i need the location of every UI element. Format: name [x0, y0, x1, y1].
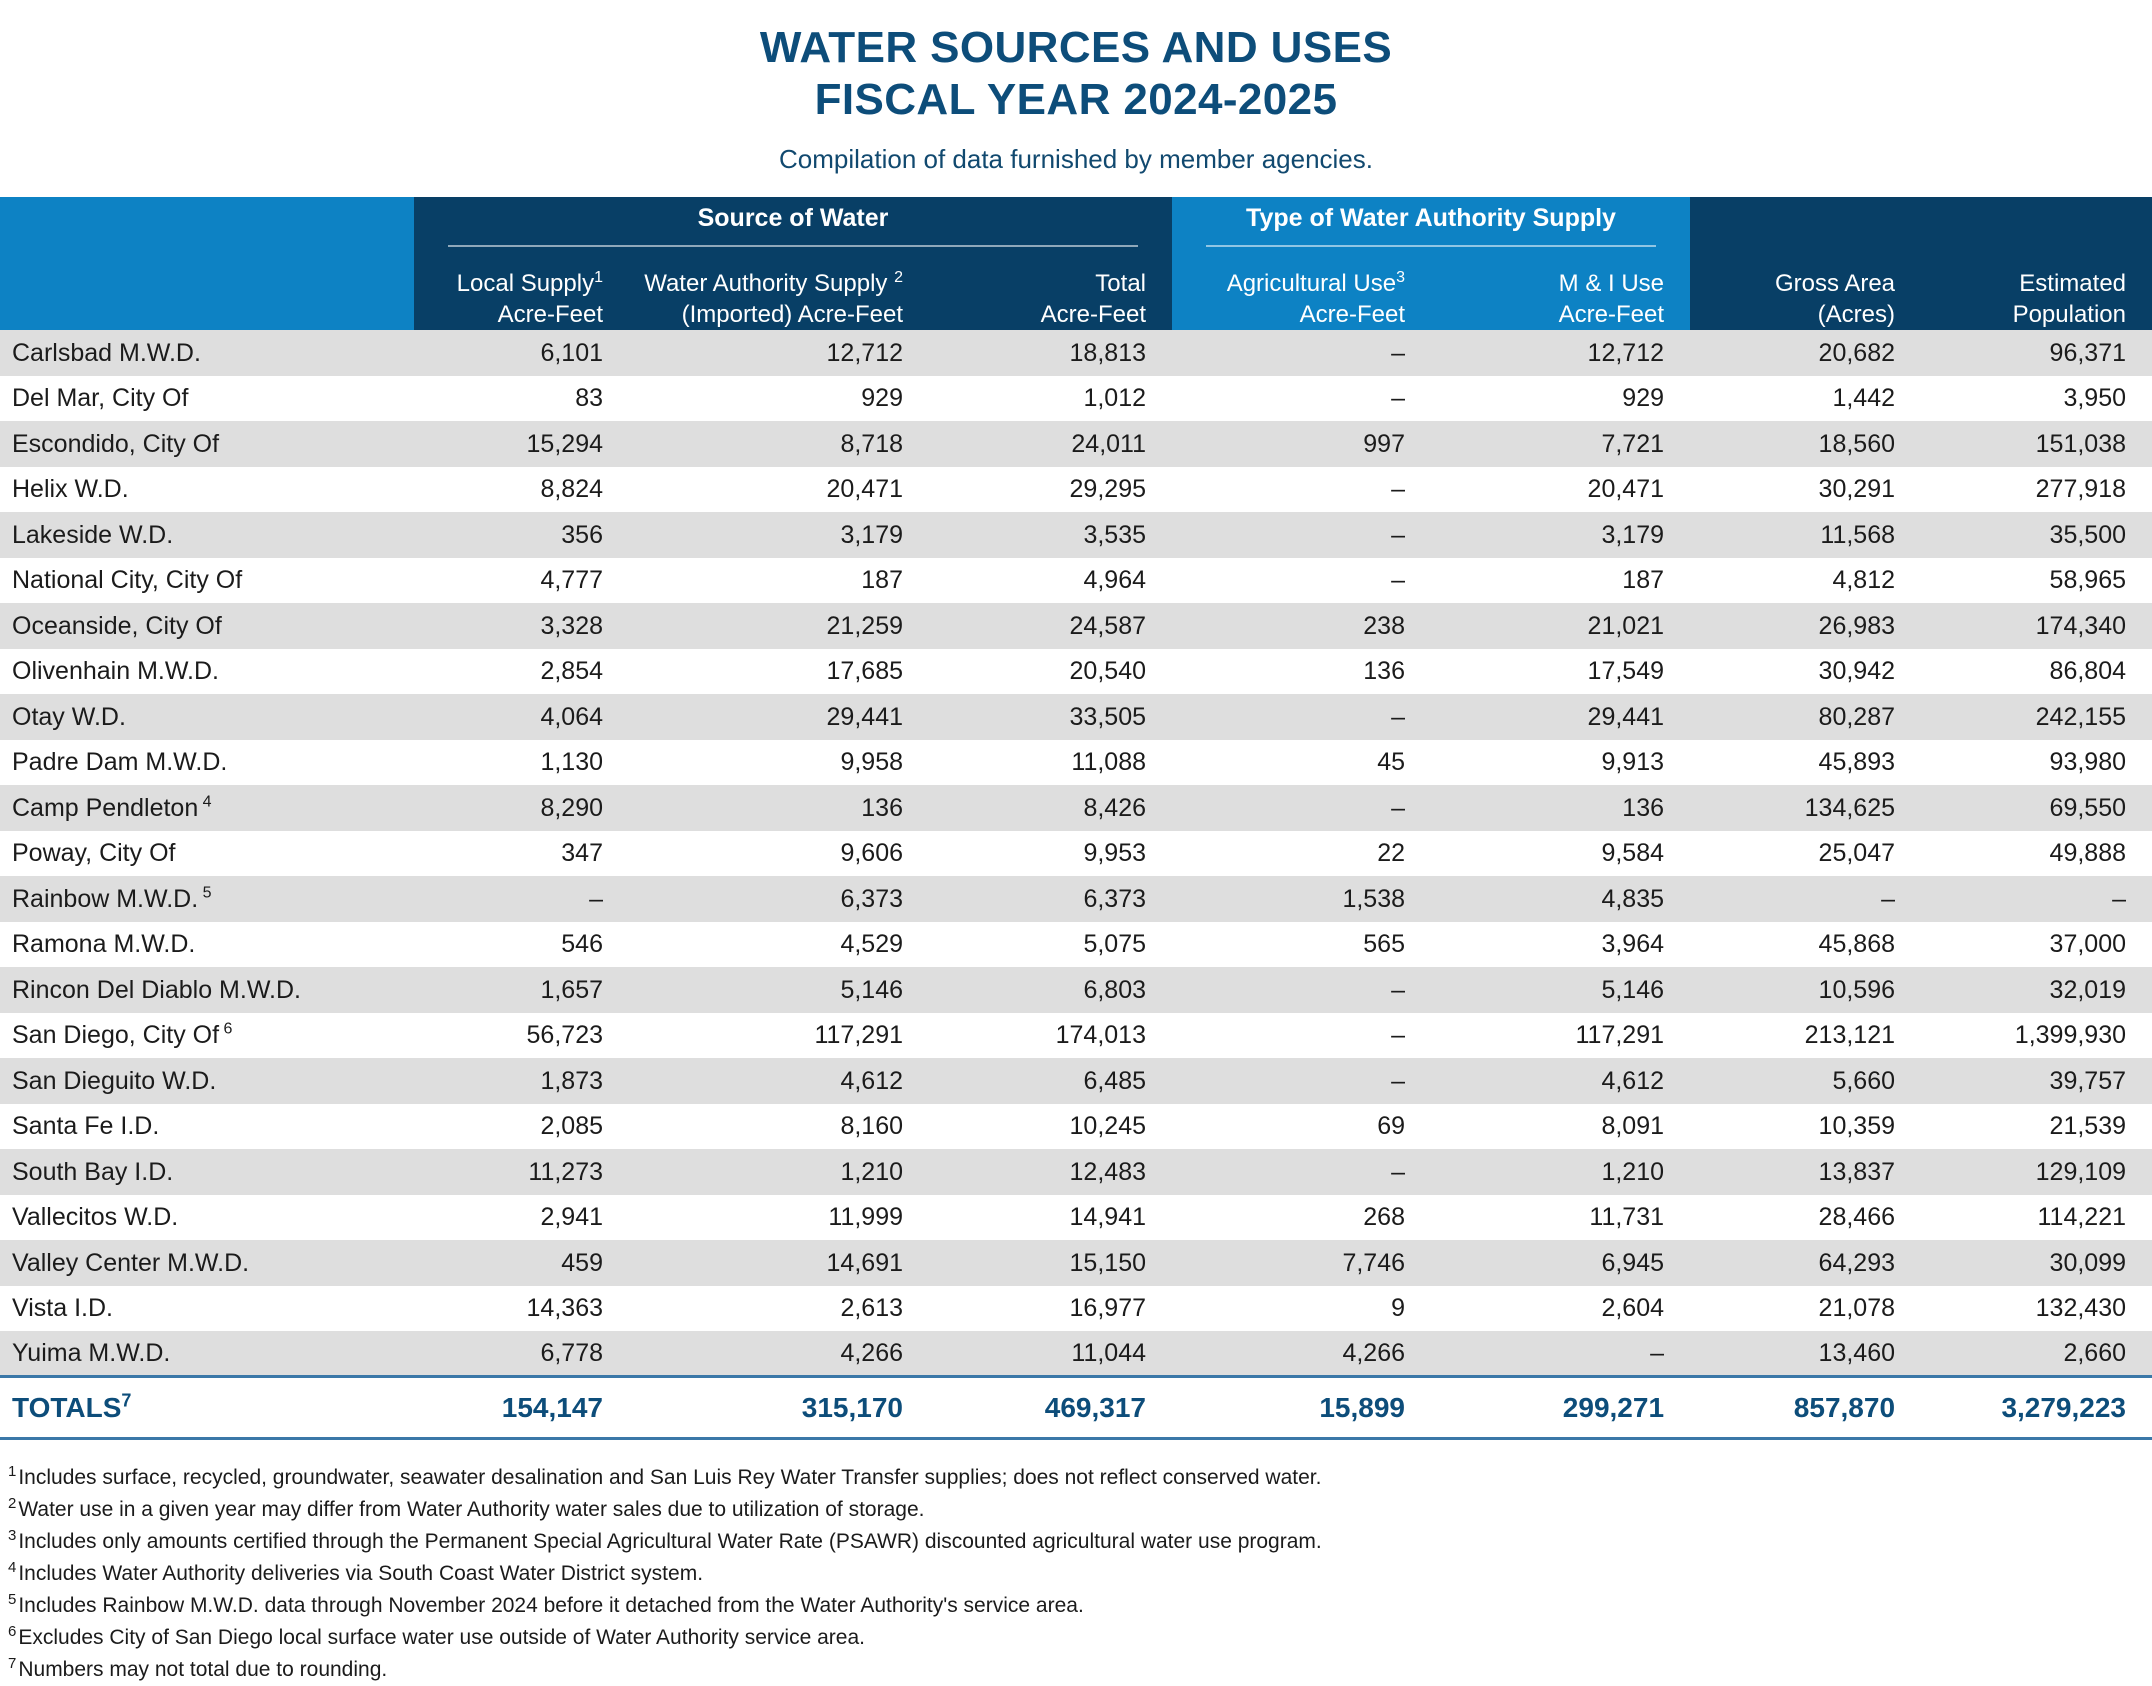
- cell-gross: 80,287: [1690, 694, 1921, 740]
- cell-mi: 4,612: [1431, 1058, 1690, 1104]
- column-header-total-line2: Acre-Feet: [1041, 301, 1146, 328]
- cell-gross: 30,291: [1690, 467, 1921, 513]
- cell-wa: 9,606: [629, 831, 929, 877]
- cell-ag: –: [1172, 1149, 1431, 1195]
- table-row: Yuima M.W.D.6,7784,26611,0444,266–13,460…: [0, 1331, 2152, 1377]
- cell-mi: 136: [1431, 785, 1690, 831]
- table-row: Del Mar, City Of839291,012–9291,4423,950: [0, 376, 2152, 422]
- cell-gross: 1,442: [1690, 376, 1921, 422]
- cell-total: 3,535: [929, 512, 1172, 558]
- page-header: WATER SOURCES AND USES FISCAL YEAR 2024-…: [0, 0, 2152, 175]
- footnote-text: Includes Water Authority deliveries via …: [18, 1562, 703, 1585]
- totals-cell-wa: 315,170: [629, 1377, 929, 1439]
- footnote-2: 2Water use in a given year may differ fr…: [8, 1494, 2152, 1526]
- cell-ag: –: [1172, 785, 1431, 831]
- cell-pop: 114,221: [1921, 1195, 2152, 1241]
- agency-name-cell: Oceanside, City Of: [0, 603, 414, 649]
- agency-footnote-marker: 4: [198, 793, 211, 810]
- cell-mi: 117,291: [1431, 1013, 1690, 1059]
- page-subtitle: Compilation of data furnished by member …: [0, 144, 2152, 175]
- cell-total: 6,373: [929, 876, 1172, 922]
- totals-cell-total: 469,317: [929, 1377, 1172, 1439]
- footnote-1: 1Includes surface, recycled, groundwater…: [8, 1462, 2152, 1494]
- cell-wa: 5,146: [629, 967, 929, 1013]
- column-header-agricultural-use-note: 3: [1396, 269, 1405, 286]
- table-row: Padre Dam M.W.D.1,1309,95811,088459,9134…: [0, 740, 2152, 786]
- cell-local: 1,873: [414, 1058, 629, 1104]
- cell-ag: 69: [1172, 1104, 1431, 1150]
- cell-gross: 20,682: [1690, 330, 1921, 376]
- agency-name-cell: Escondido, City Of: [0, 421, 414, 467]
- footnote-7: 7Numbers may not total due to rounding.: [8, 1654, 2152, 1686]
- cell-gross: 13,837: [1690, 1149, 1921, 1195]
- column-header-local-supply-line2: Acre-Feet: [498, 301, 603, 328]
- column-header-gross-area-line2: (Acres): [1818, 301, 1895, 328]
- cell-pop: 32,019: [1921, 967, 2152, 1013]
- footnote-text: Excludes City of San Diego local surface…: [18, 1626, 865, 1649]
- cell-pop: 93,980: [1921, 740, 2152, 786]
- cell-total: 24,587: [929, 603, 1172, 649]
- column-header-local-supply: Local Supply1 Acre-Feet: [414, 253, 629, 330]
- agency-name-cell: Del Mar, City Of: [0, 376, 414, 422]
- cell-pop: 96,371: [1921, 330, 2152, 376]
- totals-row: TOTALS7154,147315,170469,31715,899299,27…: [0, 1377, 2152, 1439]
- cell-wa: 12,712: [629, 330, 929, 376]
- cell-ag: –: [1172, 1013, 1431, 1059]
- column-header-local-supply-note: 1: [594, 269, 603, 286]
- cell-mi: 21,021: [1431, 603, 1690, 649]
- agency-name-cell: Otay W.D.: [0, 694, 414, 740]
- group-header-source-of-water-label: Source of Water: [698, 204, 889, 232]
- cell-ag: 45: [1172, 740, 1431, 786]
- cell-total: 4,964: [929, 558, 1172, 604]
- cell-pop: 21,539: [1921, 1104, 2152, 1150]
- cell-ag: 136: [1172, 649, 1431, 695]
- water-sources-and-uses-table: Source of Water Type of Water Authority …: [0, 197, 2152, 1440]
- table-row: National City, City Of4,7771874,964–1874…: [0, 558, 2152, 604]
- cell-ag: 565: [1172, 922, 1431, 968]
- footnote-5: 5Includes Rainbow M.W.D. data through No…: [8, 1590, 2152, 1622]
- column-header-gross-area-line1: Gross Area: [1775, 270, 1895, 297]
- cell-mi: 9,584: [1431, 831, 1690, 877]
- cell-local: 1,657: [414, 967, 629, 1013]
- cell-ag: –: [1172, 467, 1431, 513]
- cell-pop: 30,099: [1921, 1240, 2152, 1286]
- cell-total: 11,088: [929, 740, 1172, 786]
- cell-wa: 21,259: [629, 603, 929, 649]
- cell-ag: –: [1172, 558, 1431, 604]
- agency-name-cell: Padre Dam M.W.D.: [0, 740, 414, 786]
- cell-total: 20,540: [929, 649, 1172, 695]
- agency-name-cell: San Diego, City Of 6: [0, 1013, 414, 1059]
- agency-name-cell: Yuima M.W.D.: [0, 1331, 414, 1377]
- table-row: Vista I.D.14,3632,61316,97792,60421,0781…: [0, 1286, 2152, 1332]
- group-header-source-rule: [448, 245, 1138, 247]
- cell-ag: 7,746: [1172, 1240, 1431, 1286]
- cell-total: 18,813: [929, 330, 1172, 376]
- cell-pop: 58,965: [1921, 558, 2152, 604]
- cell-local: –: [414, 876, 629, 922]
- agency-name-cell: Lakeside W.D.: [0, 512, 414, 558]
- cell-pop: 174,340: [1921, 603, 2152, 649]
- column-header-mi-use-line1: M & I Use: [1559, 270, 1664, 297]
- footnote-6: 6Excludes City of San Diego local surfac…: [8, 1622, 2152, 1654]
- footnote-marker: 5: [8, 1591, 16, 1608]
- cell-ag: –: [1172, 1058, 1431, 1104]
- agency-footnote-marker: 6: [219, 1021, 232, 1038]
- cell-ag: –: [1172, 376, 1431, 422]
- footnote-text: Numbers may not total due to rounding.: [18, 1658, 387, 1681]
- cell-ag: –: [1172, 694, 1431, 740]
- cell-pop: 35,500: [1921, 512, 2152, 558]
- group-header-dark-blank: [1690, 197, 2152, 253]
- agency-footnote-marker: 5: [198, 884, 211, 901]
- agency-name-cell: San Dieguito W.D.: [0, 1058, 414, 1104]
- column-header-total-line1: Total: [1095, 270, 1146, 297]
- cell-mi: 6,945: [1431, 1240, 1690, 1286]
- footnote-marker: 4: [8, 1559, 16, 1576]
- cell-ag: 22: [1172, 831, 1431, 877]
- column-header-gross-area: Gross Area (Acres): [1690, 253, 1921, 330]
- agency-name-cell: Camp Pendleton 4: [0, 785, 414, 831]
- cell-mi: 29,441: [1431, 694, 1690, 740]
- cell-local: 14,363: [414, 1286, 629, 1332]
- cell-gross: 45,893: [1690, 740, 1921, 786]
- cell-mi: 3,179: [1431, 512, 1690, 558]
- table-row: Ramona M.W.D.5464,5295,0755653,96445,868…: [0, 922, 2152, 968]
- column-header-agricultural-use: Agricultural Use3 Acre-Feet: [1172, 253, 1431, 330]
- group-header-type-rule: [1206, 245, 1656, 247]
- cell-local: 6,778: [414, 1331, 629, 1377]
- agency-name-cell: South Bay I.D.: [0, 1149, 414, 1195]
- cell-wa: 14,691: [629, 1240, 929, 1286]
- cell-total: 10,245: [929, 1104, 1172, 1150]
- footnote-text: Includes surface, recycled, groundwater,…: [18, 1466, 1321, 1489]
- cell-ag: –: [1172, 330, 1431, 376]
- cell-wa: 6,373: [629, 876, 929, 922]
- cell-pop: 86,804: [1921, 649, 2152, 695]
- table-row: Vallecitos W.D.2,94111,99914,94126811,73…: [0, 1195, 2152, 1241]
- cell-ag: –: [1172, 512, 1431, 558]
- cell-wa: 2,613: [629, 1286, 929, 1332]
- cell-ag: 238: [1172, 603, 1431, 649]
- group-header-type-of-supply-label: Type of Water Authority Supply: [1246, 204, 1616, 232]
- cell-total: 33,505: [929, 694, 1172, 740]
- cell-wa: 9,958: [629, 740, 929, 786]
- footnote-marker: 2: [8, 1495, 16, 1512]
- cell-ag: –: [1172, 967, 1431, 1013]
- cell-total: 16,977: [929, 1286, 1172, 1332]
- cell-wa: 17,685: [629, 649, 929, 695]
- cell-mi: 12,712: [1431, 330, 1690, 376]
- table-row: Escondido, City Of15,2948,71824,0119977,…: [0, 421, 2152, 467]
- table-body: Carlsbad M.W.D.6,10112,71218,813–12,7122…: [0, 330, 2152, 1439]
- totals-footnote-marker: 7: [121, 1391, 131, 1411]
- group-header-blank: [0, 197, 414, 253]
- cell-mi: 8,091: [1431, 1104, 1690, 1150]
- cell-pop: 129,109: [1921, 1149, 2152, 1195]
- cell-mi: 11,731: [1431, 1195, 1690, 1241]
- totals-label: TOTALS7: [0, 1377, 414, 1439]
- cell-gross: 25,047: [1690, 831, 1921, 877]
- cell-local: 4,777: [414, 558, 629, 604]
- table-row: Rincon Del Diablo M.W.D.1,6575,1466,803–…: [0, 967, 2152, 1013]
- cell-local: 6,101: [414, 330, 629, 376]
- cell-gross: 30,942: [1690, 649, 1921, 695]
- page-title-line-1: WATER SOURCES AND USES: [0, 22, 2152, 74]
- footnote-marker: 1: [8, 1463, 16, 1480]
- cell-gross: 13,460: [1690, 1331, 1921, 1377]
- cell-local: 8,824: [414, 467, 629, 513]
- cell-local: 1,130: [414, 740, 629, 786]
- cell-local: 56,723: [414, 1013, 629, 1059]
- cell-gross: 64,293: [1690, 1240, 1921, 1286]
- column-header-water-authority-supply-line1: Water Authority Supply: [644, 270, 887, 297]
- cell-gross: 26,983: [1690, 603, 1921, 649]
- agency-name-cell: Rainbow M.W.D. 5: [0, 876, 414, 922]
- table-row: Lakeside W.D.3563,1793,535–3,17911,56835…: [0, 512, 2152, 558]
- cell-total: 6,485: [929, 1058, 1172, 1104]
- table-row: Olivenhain M.W.D.2,85417,68520,54013617,…: [0, 649, 2152, 695]
- footnote-marker: 3: [8, 1527, 16, 1544]
- cell-mi: 2,604: [1431, 1286, 1690, 1332]
- totals-cell-gross: 857,870: [1690, 1377, 1921, 1439]
- totals-cell-pop: 3,279,223: [1921, 1377, 2152, 1439]
- cell-wa: 1,210: [629, 1149, 929, 1195]
- cell-local: 459: [414, 1240, 629, 1286]
- cell-mi: 4,835: [1431, 876, 1690, 922]
- cell-mi: 7,721: [1431, 421, 1690, 467]
- column-header-local-supply-line1: Local Supply: [457, 270, 594, 297]
- cell-total: 174,013: [929, 1013, 1172, 1059]
- cell-local: 2,941: [414, 1195, 629, 1241]
- agency-name-cell: Helix W.D.: [0, 467, 414, 513]
- cell-total: 9,953: [929, 831, 1172, 877]
- cell-pop: 242,155: [1921, 694, 2152, 740]
- table-row: Carlsbad M.W.D.6,10112,71218,813–12,7122…: [0, 330, 2152, 376]
- group-header-source-of-water: Source of Water: [414, 197, 1172, 253]
- cell-wa: 11,999: [629, 1195, 929, 1241]
- footnote-text: Water use in a given year may differ fro…: [18, 1498, 924, 1521]
- table-row: Rainbow M.W.D. 5–6,3736,3731,5384,835––: [0, 876, 2152, 922]
- cell-gross: 134,625: [1690, 785, 1921, 831]
- agency-name-cell: Valley Center M.W.D.: [0, 1240, 414, 1286]
- column-header-water-authority-supply: Water Authority Supply 2 (Imported) Acre…: [629, 253, 929, 330]
- table-row: Oceanside, City Of3,32821,25924,58723821…: [0, 603, 2152, 649]
- group-header-type-of-supply: Type of Water Authority Supply: [1172, 197, 1690, 253]
- cell-total: 1,012: [929, 376, 1172, 422]
- table-row: Helix W.D.8,82420,47129,295–20,47130,291…: [0, 467, 2152, 513]
- cell-local: 2,854: [414, 649, 629, 695]
- agency-name-cell: Carlsbad M.W.D.: [0, 330, 414, 376]
- cell-local: 3,328: [414, 603, 629, 649]
- agency-name-cell: Ramona M.W.D.: [0, 922, 414, 968]
- cell-local: 83: [414, 376, 629, 422]
- footnotes: 1Includes surface, recycled, groundwater…: [0, 1440, 2152, 1685]
- table-row: Otay W.D.4,06429,44133,505–29,44180,2872…: [0, 694, 2152, 740]
- cell-local: 4,064: [414, 694, 629, 740]
- table-row: San Dieguito W.D.1,8734,6126,485–4,6125,…: [0, 1058, 2152, 1104]
- cell-gross: 11,568: [1690, 512, 1921, 558]
- cell-total: 24,011: [929, 421, 1172, 467]
- footnote-text: Includes only amounts certified through …: [18, 1530, 1321, 1553]
- footnote-3: 3Includes only amounts certified through…: [8, 1526, 2152, 1558]
- agency-name-cell: Rincon Del Diablo M.W.D.: [0, 967, 414, 1013]
- cell-mi: –: [1431, 1331, 1690, 1377]
- cell-total: 11,044: [929, 1331, 1172, 1377]
- cell-total: 14,941: [929, 1195, 1172, 1241]
- cell-pop: 69,550: [1921, 785, 2152, 831]
- cell-gross: 21,078: [1690, 1286, 1921, 1332]
- cell-mi: 5,146: [1431, 967, 1690, 1013]
- cell-local: 356: [414, 512, 629, 558]
- cell-gross: 213,121: [1690, 1013, 1921, 1059]
- cell-wa: 187: [629, 558, 929, 604]
- table-row: Poway, City Of3479,6069,953229,58425,047…: [0, 831, 2152, 877]
- table-row: Camp Pendleton 48,2901368,426–136134,625…: [0, 785, 2152, 831]
- cell-ag: 9: [1172, 1286, 1431, 1332]
- column-header-water-authority-supply-line2: (Imported) Acre-Feet: [682, 301, 903, 328]
- footnote-4: 4Includes Water Authority deliveries via…: [8, 1558, 2152, 1590]
- cell-mi: 187: [1431, 558, 1690, 604]
- footnote-text: Includes Rainbow M.W.D. data through Nov…: [18, 1594, 1083, 1617]
- cell-wa: 117,291: [629, 1013, 929, 1059]
- cell-wa: 4,266: [629, 1331, 929, 1377]
- cell-wa: 8,718: [629, 421, 929, 467]
- column-header-mi-use: M & I Use Acre-Feet: [1431, 253, 1690, 330]
- cell-mi: 1,210: [1431, 1149, 1690, 1195]
- cell-mi: 929: [1431, 376, 1690, 422]
- cell-wa: 8,160: [629, 1104, 929, 1150]
- cell-pop: 39,757: [1921, 1058, 2152, 1104]
- column-header-agency: [0, 253, 414, 330]
- cell-ag: 268: [1172, 1195, 1431, 1241]
- cell-gross: 5,660: [1690, 1058, 1921, 1104]
- cell-pop: 49,888: [1921, 831, 2152, 877]
- cell-mi: 9,913: [1431, 740, 1690, 786]
- cell-wa: 4,612: [629, 1058, 929, 1104]
- cell-local: 11,273: [414, 1149, 629, 1195]
- cell-gross: 10,359: [1690, 1104, 1921, 1150]
- cell-total: 5,075: [929, 922, 1172, 968]
- totals-cell-ag: 15,899: [1172, 1377, 1431, 1439]
- cell-ag: 4,266: [1172, 1331, 1431, 1377]
- column-header-estimated-population: Estimated Population: [1921, 253, 2152, 330]
- column-header-agricultural-use-line2: Acre-Feet: [1300, 301, 1405, 328]
- cell-total: 15,150: [929, 1240, 1172, 1286]
- cell-local: 15,294: [414, 421, 629, 467]
- totals-cell-mi: 299,271: [1431, 1377, 1690, 1439]
- footnote-marker: 7: [8, 1655, 16, 1672]
- agency-name-cell: Olivenhain M.W.D.: [0, 649, 414, 695]
- cell-gross: 45,868: [1690, 922, 1921, 968]
- cell-pop: 132,430: [1921, 1286, 2152, 1332]
- agency-name-cell: Vallecitos W.D.: [0, 1195, 414, 1241]
- cell-wa: 20,471: [629, 467, 929, 513]
- cell-wa: 4,529: [629, 922, 929, 968]
- cell-local: 8,290: [414, 785, 629, 831]
- cell-gross: 18,560: [1690, 421, 1921, 467]
- column-header-estimated-population-line1: Estimated: [2019, 270, 2126, 297]
- cell-local: 347: [414, 831, 629, 877]
- column-header-total: Total Acre-Feet: [929, 253, 1172, 330]
- cell-mi: 3,964: [1431, 922, 1690, 968]
- column-header-estimated-population-line2: Population: [2013, 301, 2126, 328]
- cell-mi: 20,471: [1431, 467, 1690, 513]
- agency-name-cell: Vista I.D.: [0, 1286, 414, 1332]
- cell-total: 29,295: [929, 467, 1172, 513]
- cell-wa: 3,179: [629, 512, 929, 558]
- cell-gross: 28,466: [1690, 1195, 1921, 1241]
- cell-gross: 10,596: [1690, 967, 1921, 1013]
- cell-pop: 2,660: [1921, 1331, 2152, 1377]
- cell-wa: 29,441: [629, 694, 929, 740]
- page-title-line-2: FISCAL YEAR 2024-2025: [0, 74, 2152, 126]
- cell-pop: 37,000: [1921, 922, 2152, 968]
- column-header-row: Local Supply1 Acre-Feet Water Authority …: [0, 253, 2152, 330]
- agency-name-cell: National City, City Of: [0, 558, 414, 604]
- cell-ag: 1,538: [1172, 876, 1431, 922]
- group-header-row: Source of Water Type of Water Authority …: [0, 197, 2152, 253]
- cell-total: 8,426: [929, 785, 1172, 831]
- cell-pop: 151,038: [1921, 421, 2152, 467]
- table-row: South Bay I.D.11,2731,21012,483–1,21013,…: [0, 1149, 2152, 1195]
- cell-pop: –: [1921, 876, 2152, 922]
- column-header-agricultural-use-line1: Agricultural Use: [1227, 270, 1396, 297]
- table-row: Valley Center M.W.D.45914,69115,1507,746…: [0, 1240, 2152, 1286]
- column-header-water-authority-supply-note: 2: [894, 269, 903, 286]
- cell-ag: 997: [1172, 421, 1431, 467]
- cell-local: 2,085: [414, 1104, 629, 1150]
- table-header: Source of Water Type of Water Authority …: [0, 197, 2152, 330]
- column-header-mi-use-line2: Acre-Feet: [1559, 301, 1664, 328]
- table-row: Santa Fe I.D.2,0858,16010,245698,09110,3…: [0, 1104, 2152, 1150]
- totals-cell-local: 154,147: [414, 1377, 629, 1439]
- cell-total: 12,483: [929, 1149, 1172, 1195]
- agency-name-cell: Poway, City Of: [0, 831, 414, 877]
- table-row: San Diego, City Of 656,723117,291174,013…: [0, 1013, 2152, 1059]
- cell-wa: 929: [629, 376, 929, 422]
- cell-gross: –: [1690, 876, 1921, 922]
- footnote-marker: 6: [8, 1623, 16, 1640]
- cell-local: 546: [414, 922, 629, 968]
- cell-pop: 1,399,930: [1921, 1013, 2152, 1059]
- cell-total: 6,803: [929, 967, 1172, 1013]
- cell-mi: 17,549: [1431, 649, 1690, 695]
- cell-gross: 4,812: [1690, 558, 1921, 604]
- cell-pop: 277,918: [1921, 467, 2152, 513]
- agency-name-cell: Santa Fe I.D.: [0, 1104, 414, 1150]
- cell-pop: 3,950: [1921, 376, 2152, 422]
- cell-wa: 136: [629, 785, 929, 831]
